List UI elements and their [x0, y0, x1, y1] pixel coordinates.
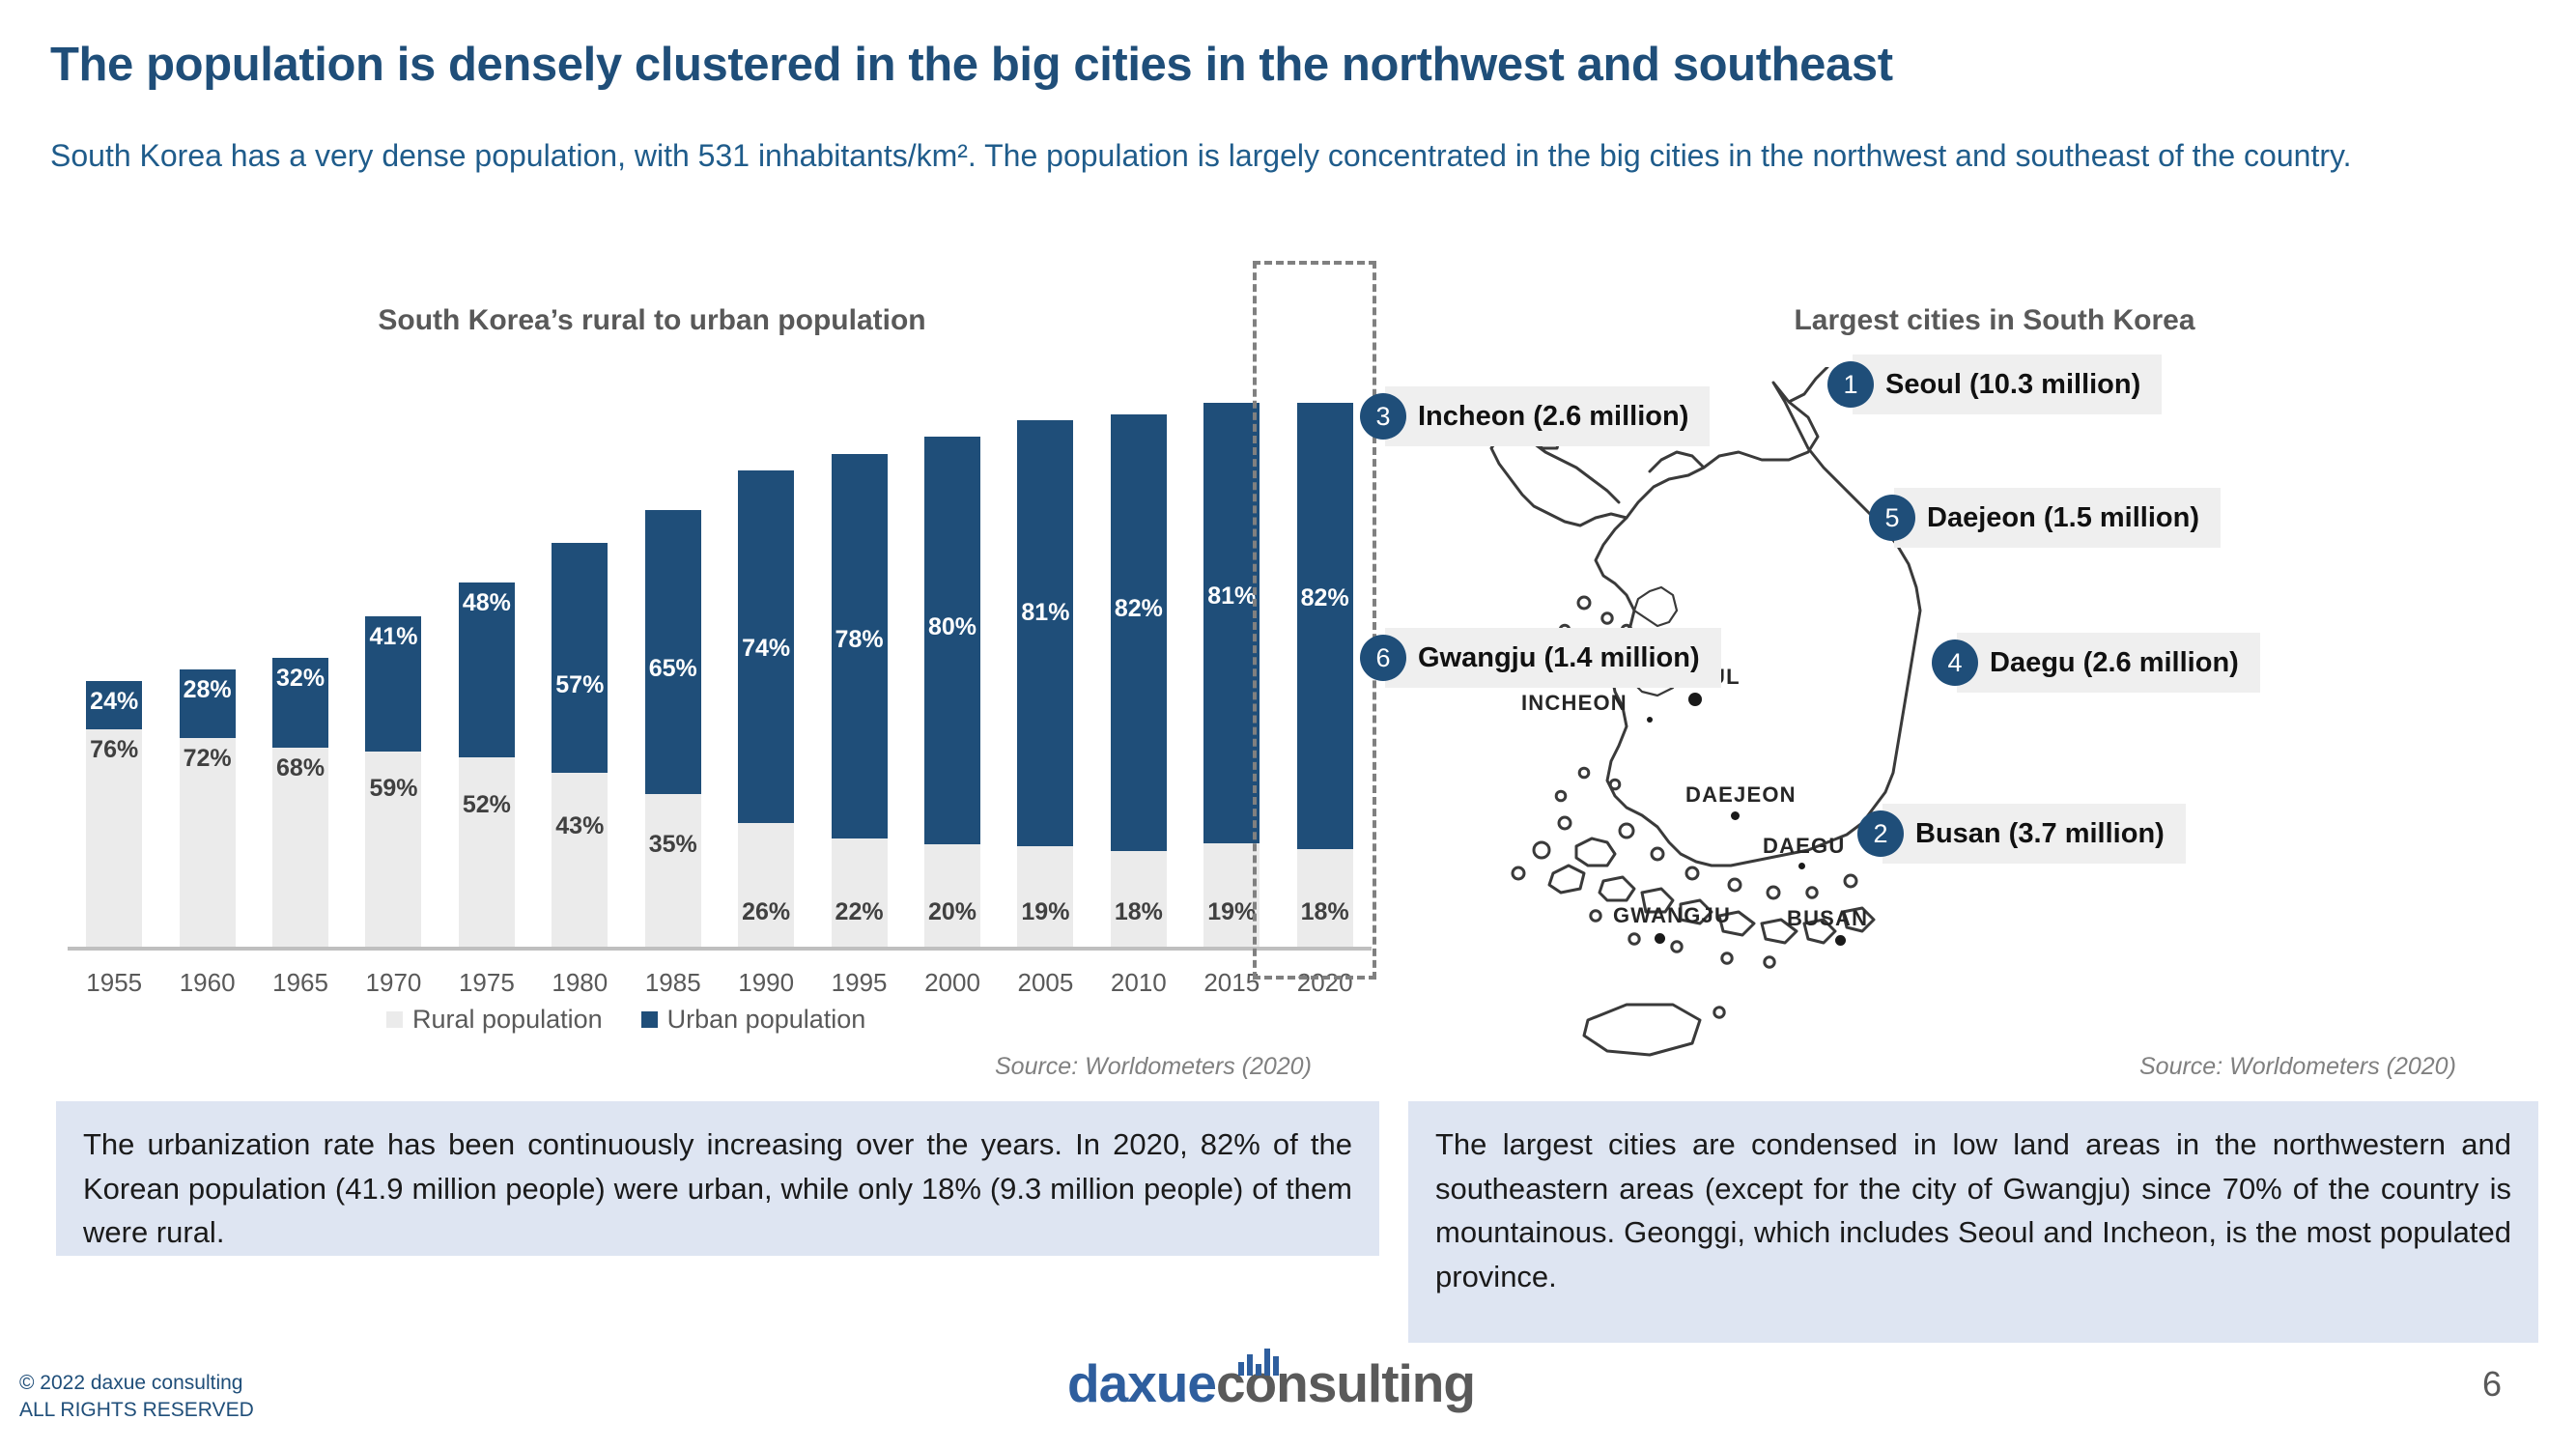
bar-segment-rural: 52% — [459, 757, 515, 947]
map-label-busan: BUSAN — [1787, 906, 1868, 931]
chart-bars: 24%76%28%72%32%68%41%59%48%52%57%43%65%3… — [68, 386, 1372, 947]
bar-label-rural: 52% — [463, 784, 511, 826]
bar-column: 65%35% — [627, 386, 720, 947]
x-axis-tick-label: 2005 — [999, 956, 1091, 998]
bar-segment-urban: 74% — [738, 470, 794, 823]
korea-map-outline — [1449, 367, 2086, 1082]
logo-bar-chart-icon — [1238, 1345, 1279, 1376]
bar-label-urban: 78% — [835, 619, 884, 661]
bar-column: 80%20% — [906, 386, 999, 947]
bar-segment-rural: 43% — [552, 773, 608, 947]
bar-stack: 78%22% — [832, 454, 888, 947]
bar-column: 74%26% — [720, 386, 812, 947]
bar-label-rural: 18% — [1115, 892, 1163, 933]
bar-segment-urban: 82% — [1111, 414, 1167, 851]
callout-badge-2: 2 — [1857, 810, 1904, 857]
bar-stack: 28%72% — [180, 700, 236, 947]
bar-label-rural: 35% — [649, 824, 697, 866]
bar-label-urban: 24% — [90, 681, 138, 723]
callout-label-daegu: Daegu (2.6 million) — [1957, 633, 2260, 693]
x-axis-tick-label: 1985 — [627, 956, 720, 998]
bar-stack: 57%43% — [552, 543, 608, 947]
legend-item-urban: Urban population — [641, 1005, 866, 1035]
x-axis-labels: 1955196019651970197519801985199019952000… — [68, 956, 1372, 998]
bar-label-urban: 80% — [928, 607, 977, 648]
logo-text-daxue: daxue — [1067, 1352, 1216, 1414]
map-panel-title: Largest cities in South Korea — [1449, 304, 2540, 337]
x-axis-tick-label: 1960 — [160, 956, 253, 998]
bar-stack: 82%18% — [1111, 414, 1167, 947]
map-source-text: Source: Worldometers (2020) — [2139, 1053, 2456, 1081]
chart-panel-title: South Korea’s rural to urban population — [116, 304, 1188, 337]
bar-stack: 81%19% — [1203, 403, 1260, 947]
map-label-daegu: DAEGU — [1763, 834, 1845, 859]
chart-source-text: Source: Worldometers (2020) — [995, 1053, 1312, 1081]
bar-column: 28%72% — [160, 386, 253, 947]
bar-label-urban: 74% — [742, 628, 790, 669]
bar-segment-urban: 48% — [459, 582, 515, 757]
note-box-right: The largest cities are condensed in low … — [1408, 1101, 2538, 1343]
bar-segment-urban: 81% — [1017, 420, 1073, 847]
bar-segment-rural: 18% — [1111, 851, 1167, 947]
map-dot-daejeon — [1731, 811, 1740, 820]
bar-segment-rural: 22% — [832, 838, 888, 947]
callout-label-daejeon: Daejeon (1.5 million) — [1894, 488, 2221, 548]
x-axis-tick-label: 1990 — [720, 956, 812, 998]
bar-stack: 81%19% — [1017, 420, 1073, 947]
callout-seoul[interactable]: 1 Seoul (10.3 million) — [1827, 355, 2162, 414]
bar-column: 78%22% — [812, 386, 905, 947]
note-box-left: The urbanization rate has been continuou… — [56, 1101, 1379, 1256]
bar-label-rural: 22% — [835, 892, 884, 933]
bar-label-rural: 76% — [90, 729, 138, 771]
page-title: The population is densely clustered in t… — [50, 41, 2523, 90]
bar-label-rural: 26% — [742, 892, 790, 933]
bar-segment-rural: 26% — [738, 823, 794, 947]
callout-label-busan: Busan (3.7 million) — [1882, 804, 2186, 864]
korea-map: SEOUL INCHEON DAEJEON DAEGU GWANGJU BUSA… — [1430, 357, 2569, 1092]
bar-label-rural: 19% — [1207, 892, 1256, 933]
legend-item-rural: Rural population — [386, 1005, 603, 1035]
slide: The population is densely clustered in t… — [0, 0, 2576, 1449]
copyright: © 2022 daxue consulting ALL RIGHTS RESER… — [19, 1370, 254, 1425]
map-dot-gwangju — [1655, 933, 1665, 944]
bar-column: 81%19% — [999, 386, 1091, 947]
copyright-line-2: ALL RIGHTS RESERVED — [19, 1397, 254, 1424]
bar-label-urban: 28% — [184, 669, 232, 711]
bar-label-urban: 48% — [463, 582, 511, 624]
x-axis-tick-label: 1965 — [254, 956, 347, 998]
bar-segment-rural: 68% — [272, 748, 328, 947]
bar-label-urban: 65% — [649, 648, 697, 690]
bar-segment-rural: 59% — [365, 752, 421, 947]
bar-column: 48%52% — [440, 386, 533, 947]
legend-label-rural: Rural population — [412, 1005, 603, 1035]
bar-column: 82%18% — [1092, 386, 1185, 947]
bar-stack: 24%76% — [86, 745, 142, 947]
bar-segment-urban: 32% — [272, 658, 328, 748]
stacked-bar-chart: 24%76%28%72%32%68%41%59%48%52%57%43%65%3… — [58, 386, 1391, 1005]
bar-column: 57%43% — [533, 386, 626, 947]
bar-segment-urban: 78% — [832, 454, 888, 838]
bar-label-rural: 43% — [555, 806, 604, 847]
x-axis-tick-label: 1955 — [68, 956, 160, 998]
page-number: 6 — [2482, 1364, 2502, 1405]
x-axis-tick-label: 1975 — [440, 956, 533, 998]
map-dot-incheon — [1647, 717, 1653, 723]
bar-segment-urban: 28% — [180, 669, 236, 738]
bar-label-urban: 82% — [1115, 588, 1163, 630]
callout-gwangju[interactable]: 6 Gwangju (1.4 million) — [1360, 628, 1721, 688]
callout-badge-6: 6 — [1360, 635, 1406, 681]
callout-badge-5: 5 — [1869, 495, 1915, 541]
callout-daegu[interactable]: 4 Daegu (2.6 million) — [1932, 633, 2260, 693]
bar-label-rural: 20% — [928, 892, 977, 933]
bar-segment-rural: 19% — [1203, 843, 1260, 947]
chart-legend: Rural population Urban population — [386, 1005, 865, 1035]
bar-segment-urban: 24% — [86, 681, 142, 729]
callout-badge-3: 3 — [1360, 393, 1406, 440]
map-dot-daegu — [1798, 863, 1805, 869]
bar-segment-urban: 65% — [645, 510, 701, 794]
highlight-box-2020 — [1253, 261, 1376, 980]
x-axis-tick-label: 1970 — [347, 956, 439, 998]
bar-segment-urban: 80% — [924, 437, 980, 844]
callout-label-seoul: Seoul (10.3 million) — [1853, 355, 2162, 414]
bar-segment-rural: 19% — [1017, 846, 1073, 947]
x-axis-tick-label: 2010 — [1092, 956, 1185, 998]
bar-stack: 32%68% — [272, 667, 328, 947]
bar-label-rural: 72% — [184, 738, 232, 780]
callout-label-gwangju: Gwangju (1.4 million) — [1385, 628, 1721, 688]
bar-segment-rural: 20% — [924, 844, 980, 947]
map-dot-busan — [1835, 935, 1846, 946]
callout-daejeon[interactable]: 5 Daejeon (1.5 million) — [1869, 488, 2221, 548]
x-axis-tick-label: 1995 — [812, 956, 905, 998]
copyright-line-1: © 2022 daxue consulting — [19, 1370, 254, 1397]
bar-stack: 74%26% — [738, 470, 794, 947]
callout-badge-4: 4 — [1932, 639, 1978, 686]
bar-column: 24%76% — [68, 386, 160, 947]
bar-column: 32%68% — [254, 386, 347, 947]
bar-label-urban: 32% — [276, 658, 325, 699]
callout-badge-1: 1 — [1827, 361, 1874, 408]
page-subtitle: South Korea has a very dense population,… — [50, 135, 2494, 176]
bar-stack: 80%20% — [924, 437, 980, 947]
bar-segment-rural: 72% — [180, 738, 236, 947]
bar-label-rural: 68% — [276, 748, 325, 789]
bar-label-urban: 41% — [369, 616, 417, 658]
bar-label-urban: 81% — [1207, 576, 1256, 617]
bar-stack: 48%52% — [459, 582, 515, 947]
callout-label-incheon: Incheon (2.6 million) — [1385, 386, 1710, 446]
legend-label-urban: Urban population — [667, 1005, 866, 1035]
bar-label-rural: 19% — [1021, 892, 1069, 933]
bar-segment-urban: 41% — [365, 616, 421, 752]
legend-swatch-rural — [386, 1011, 403, 1028]
bar-label-urban: 81% — [1021, 592, 1069, 634]
bar-column: 41%59% — [347, 386, 439, 947]
bar-segment-urban: 81% — [1203, 403, 1260, 843]
bar-stack: 65%35% — [645, 510, 701, 947]
x-axis-line — [68, 947, 1372, 951]
bar-label-urban: 57% — [555, 665, 604, 706]
bar-segment-urban: 57% — [552, 543, 608, 773]
callout-busan[interactable]: 2 Busan (3.7 million) — [1857, 804, 2186, 864]
callout-incheon[interactable]: 3 Incheon (2.6 million) — [1360, 386, 1710, 446]
bar-segment-rural: 76% — [86, 729, 142, 947]
bar-stack: 41%59% — [365, 616, 421, 947]
map-dot-seoul — [1688, 693, 1702, 706]
map-label-incheon: INCHEON — [1521, 691, 1628, 716]
bar-segment-rural: 35% — [645, 794, 701, 947]
legend-swatch-urban — [641, 1011, 658, 1028]
x-axis-tick-label: 1980 — [533, 956, 626, 998]
x-axis-tick-label: 2000 — [906, 956, 999, 998]
map-label-gwangju: GWANGJU — [1613, 903, 1731, 928]
map-label-daejeon: DAEJEON — [1685, 782, 1797, 808]
bar-label-rural: 59% — [369, 768, 417, 810]
